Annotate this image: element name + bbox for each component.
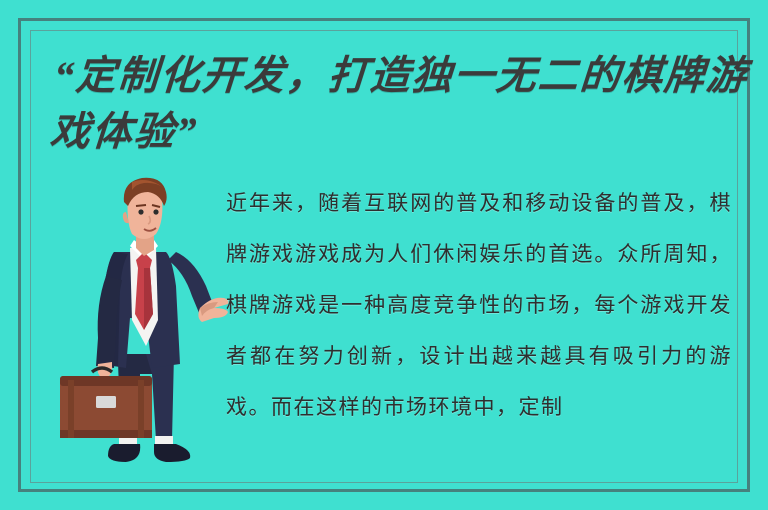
eyebrow-left <box>136 205 146 206</box>
sock-right <box>155 436 173 444</box>
poster-canvas: “定制化开发，打造独一无二的棋牌游戏体验” <box>0 0 768 510</box>
article-paragraph: 近年来，随着互联网的普及和移动设备的普及，棋牌游戏游戏成为人们休闲娱乐的首选。众… <box>226 178 732 433</box>
briefcase-clasp <box>96 396 116 408</box>
briefcase-strap-right <box>138 380 144 438</box>
eye-left <box>138 209 143 214</box>
page-title: “定制化开发，打造独一无二的棋牌游戏体验” <box>48 48 766 160</box>
shoe-left <box>108 444 140 462</box>
businessman-illustration <box>56 168 232 480</box>
shoe-right <box>154 444 190 462</box>
briefcase-strap-left <box>68 380 74 438</box>
eye-right <box>153 209 158 214</box>
